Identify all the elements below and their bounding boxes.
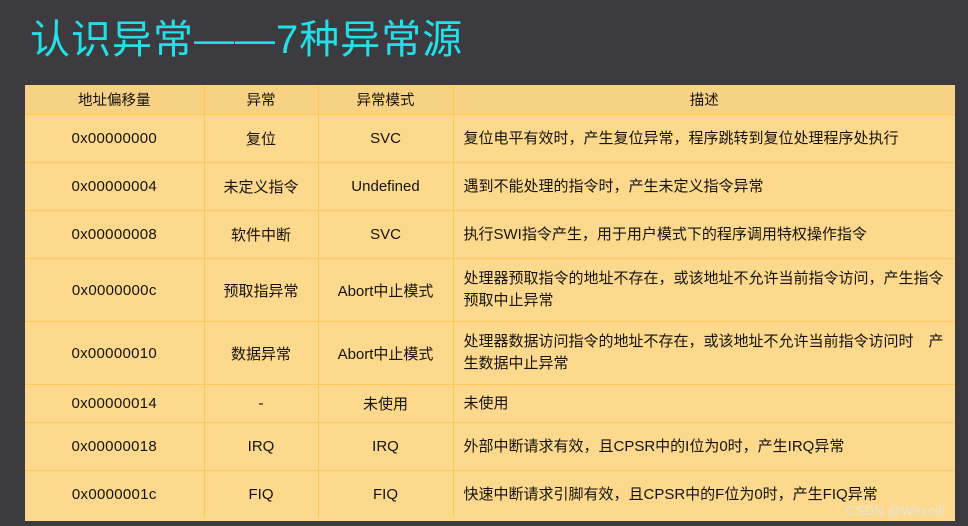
column-header-description: 描述 [453, 85, 955, 115]
cell-description: 处理器数据访问指令的地址不存在，或该地址不允许当前指令访问时 产生数据中止异常 [453, 322, 955, 385]
column-header-exception: 异常 [204, 85, 318, 115]
cell-description: 外部中断请求有效，且CPSR中的I位为0时，产生IRQ异常 [453, 423, 955, 471]
table-row: 0x00000004 未定义指令 Undefined 遇到不能处理的指令时，产生… [25, 163, 955, 211]
cell-description: 处理器预取指令的地址不存在，或该地址不允许当前指令访问，产生指令预取中止异常 [453, 259, 955, 322]
cell-exception: 数据异常 [204, 322, 318, 385]
table-row: 0x0000001c FIQ FIQ 快速中断请求引脚有效，且CPSR中的F位为… [25, 471, 955, 519]
cell-mode: Abort中止模式 [318, 259, 453, 322]
cell-mode: 未使用 [318, 385, 453, 423]
table-header: 地址偏移量 异常 异常模式 描述 [25, 85, 955, 115]
cell-mode: SVC [318, 115, 453, 163]
cell-address: 0x00000004 [25, 163, 204, 211]
cell-address: 0x0000000c [25, 259, 204, 322]
cell-description: 遇到不能处理的指令时，产生未定义指令异常 [453, 163, 955, 211]
cell-address: 0x00000008 [25, 211, 204, 259]
cell-mode: FIQ [318, 471, 453, 519]
cell-exception: - [204, 385, 318, 423]
table-row: 0x00000000 复位 SVC 复位电平有效时，产生复位异常，程序跳转到复位… [25, 115, 955, 163]
cell-address: 0x00000014 [25, 385, 204, 423]
cell-description: 未使用 [453, 385, 955, 423]
table-row: 0x0000000c 预取指异常 Abort中止模式 处理器预取指令的地址不存在… [25, 259, 955, 322]
cell-exception: 未定义指令 [204, 163, 318, 211]
table-row: 0x00000010 数据异常 Abort中止模式 处理器数据访问指令的地址不存… [25, 322, 955, 385]
cell-address: 0x00000000 [25, 115, 204, 163]
table-body: 0x00000000 复位 SVC 复位电平有效时，产生复位异常，程序跳转到复位… [25, 115, 955, 519]
cell-description: 快速中断请求引脚有效，且CPSR中的F位为0时，产生FIQ异常 [453, 471, 955, 519]
cell-description: 执行SWI指令产生，用于用户模式下的程序调用特权操作指令 [453, 211, 955, 259]
table-header-row: 地址偏移量 异常 异常模式 描述 [25, 85, 955, 115]
cell-mode: Undefined [318, 163, 453, 211]
column-header-mode: 异常模式 [318, 85, 453, 115]
cell-mode: SVC [318, 211, 453, 259]
exception-table: 地址偏移量 异常 异常模式 描述 0x00000000 复位 SVC 复位电平有… [25, 85, 955, 518]
cell-exception: 复位 [204, 115, 318, 163]
page-title: 认识异常——7种异常源 [30, 14, 463, 66]
cell-address: 0x0000001c [25, 471, 204, 519]
table-row: 0x00000008 软件中断 SVC 执行SWI指令产生，用于用户模式下的程序… [25, 211, 955, 259]
table-row: 0x00000018 IRQ IRQ 外部中断请求有效，且CPSR中的I位为0时… [25, 423, 955, 471]
cell-exception: 软件中断 [204, 211, 318, 259]
exception-table-container: 地址偏移量 异常 异常模式 描述 0x00000000 复位 SVC 复位电平有… [25, 85, 955, 521]
cell-address: 0x00000010 [25, 322, 204, 385]
cell-address: 0x00000018 [25, 423, 204, 471]
cell-exception: 预取指异常 [204, 259, 318, 322]
cell-exception: IRQ [204, 423, 318, 471]
table-row: 0x00000014 - 未使用 未使用 [25, 385, 955, 423]
cell-exception: FIQ [204, 471, 318, 519]
cell-description: 复位电平有效时，产生复位异常，程序跳转到复位处理程序处执行 [453, 115, 955, 163]
cell-mode: Abort中止模式 [318, 322, 453, 385]
column-header-address: 地址偏移量 [25, 85, 204, 115]
slide-canvas: 认识异常——7种异常源 地址偏移量 异常 异常模式 描述 0x00000000 … [0, 0, 968, 526]
cell-mode: IRQ [318, 423, 453, 471]
